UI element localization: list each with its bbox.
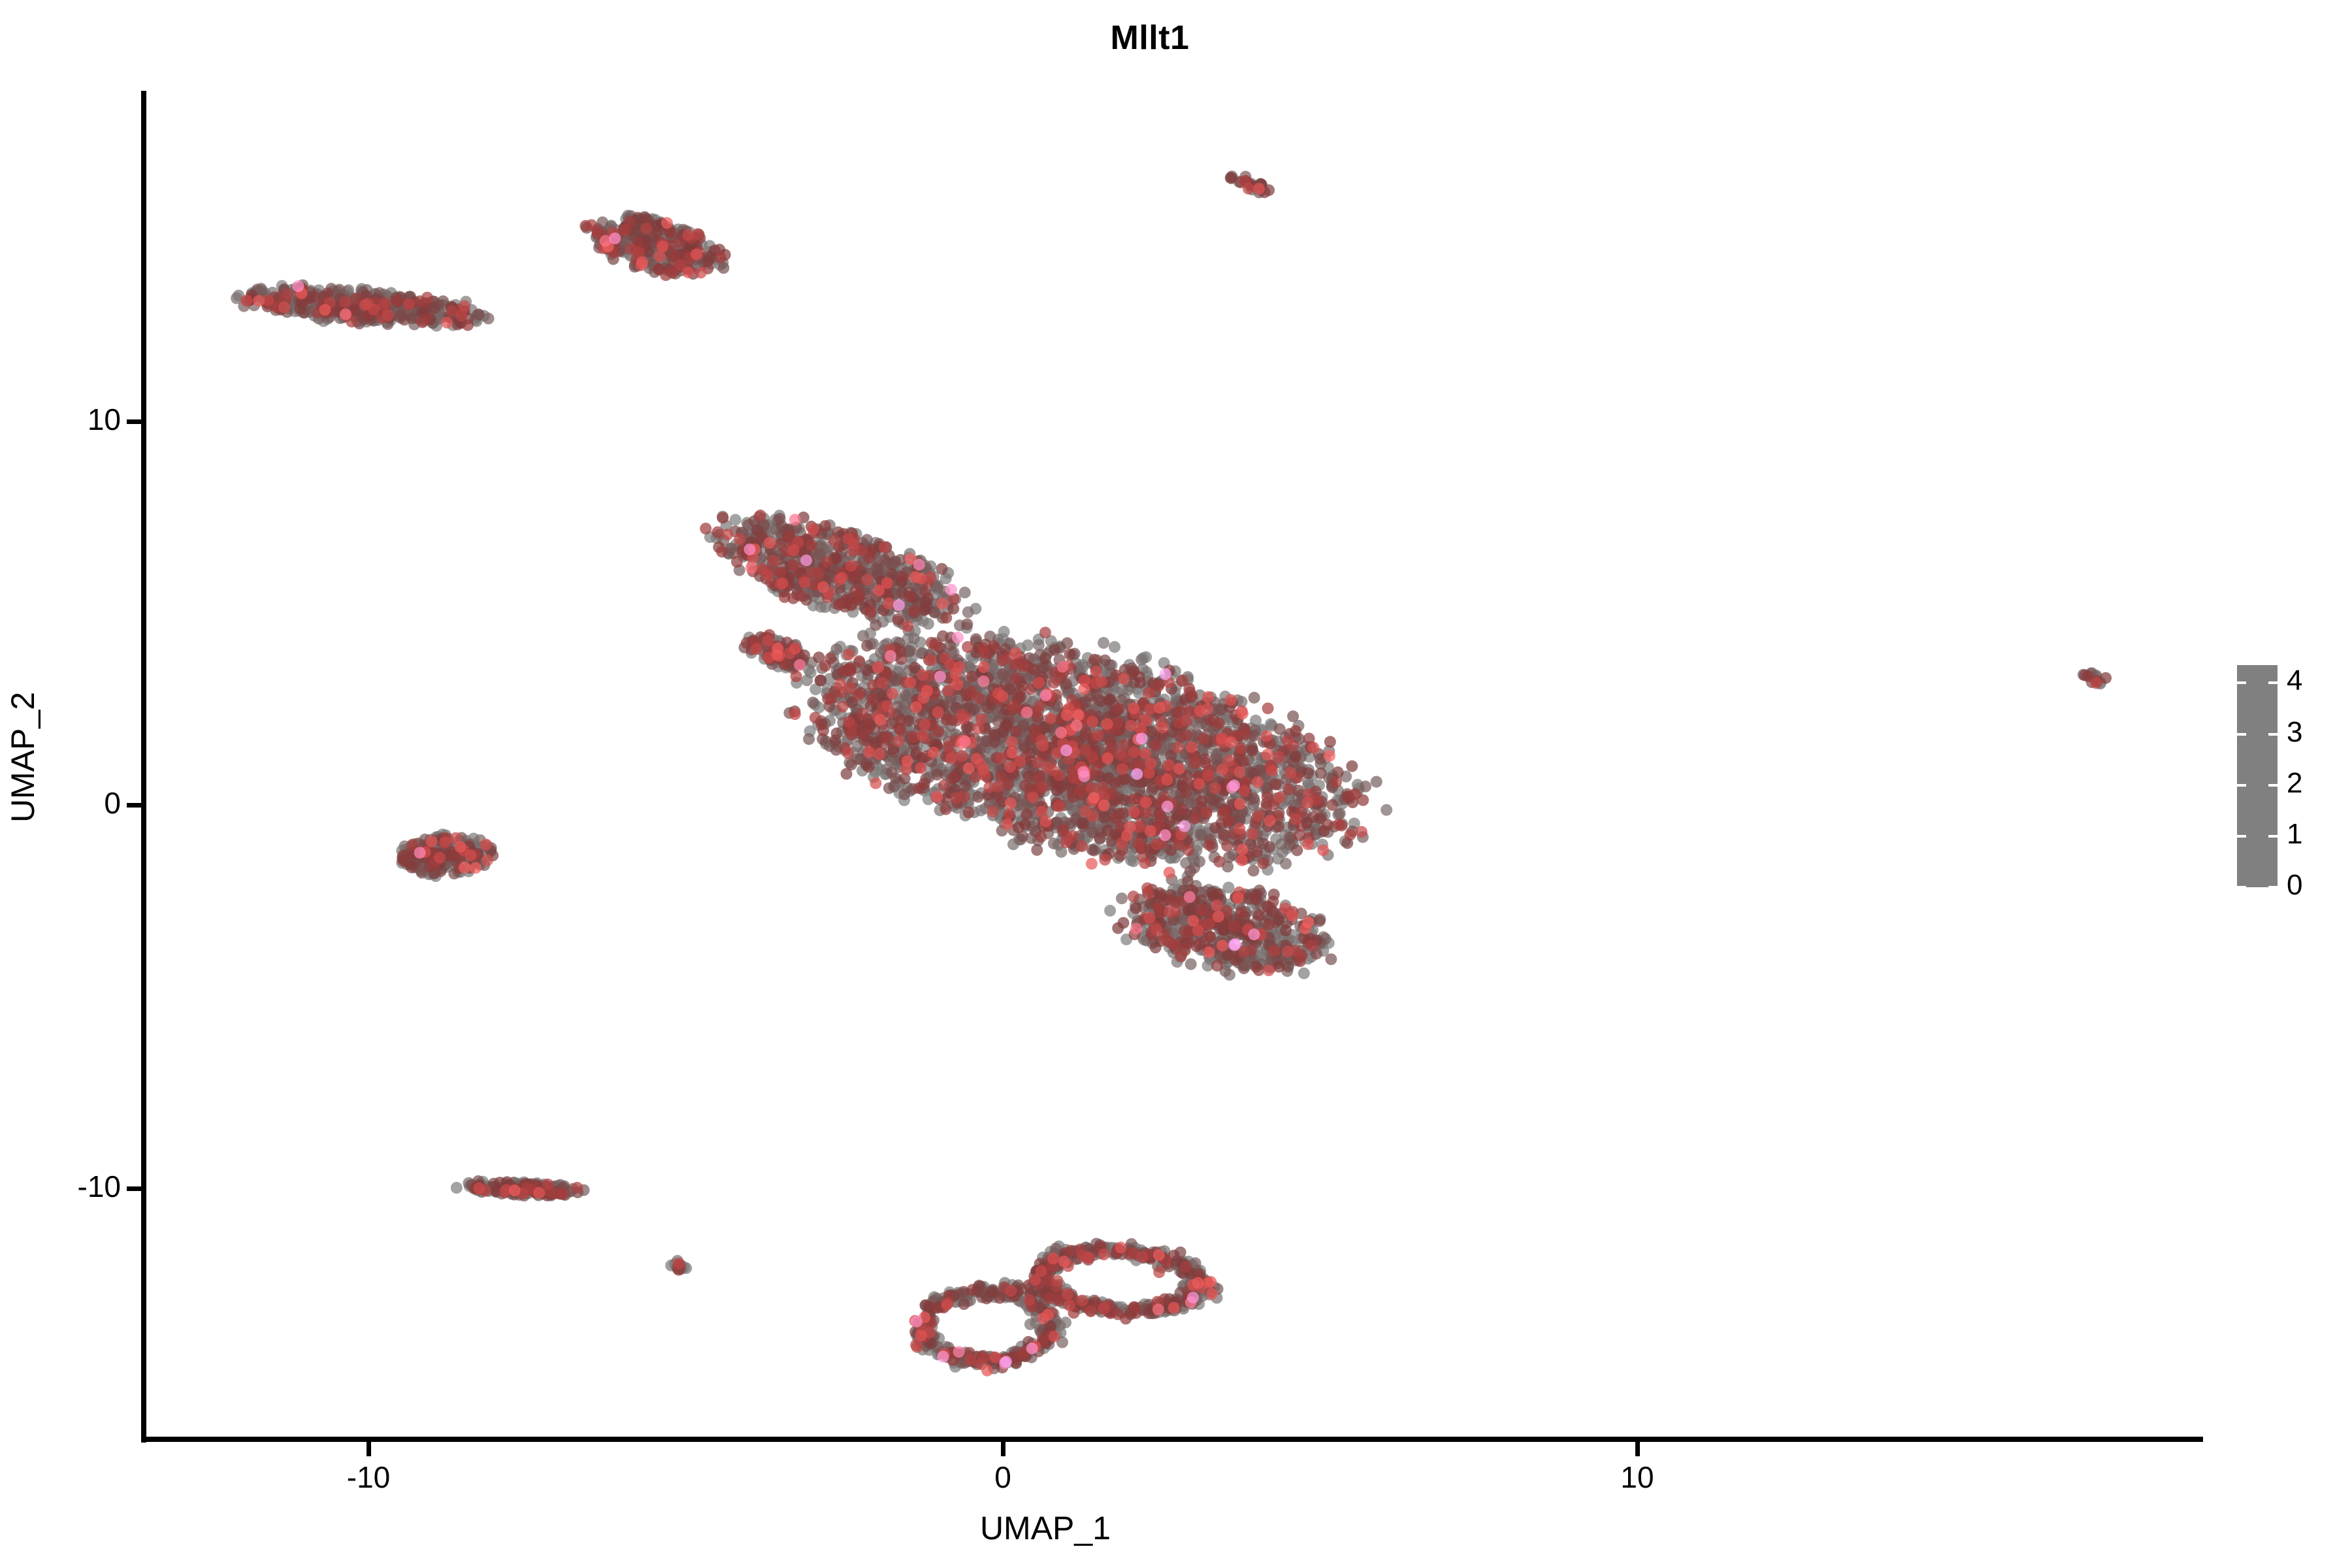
- x-tick-label: 0: [905, 1462, 1101, 1492]
- colorbar-tick-label: 3: [2287, 718, 2332, 747]
- x-tick-mark: [1001, 1442, 1005, 1456]
- y-axis-title: UMAP_2: [4, 561, 42, 953]
- y-tick-mark: [127, 803, 141, 808]
- colorbar-tick-label: 0: [2287, 871, 2332, 900]
- colorbar-tick-label: 2: [2287, 769, 2332, 798]
- colorbar-legend: 43210: [2237, 665, 2335, 902]
- x-tick-label: -10: [270, 1462, 466, 1492]
- colorbar-tick-mark: [2237, 835, 2246, 838]
- colorbar-tick-mark: [2268, 886, 2278, 889]
- x-tick-label: 10: [1539, 1462, 1735, 1492]
- colorbar-tick-label: 4: [2287, 666, 2332, 695]
- page-title: Mllt1: [0, 18, 2300, 57]
- colorbar-tick-mark: [2237, 733, 2246, 736]
- colorbar-tick-mark: [2237, 681, 2246, 684]
- colorbar-gradient: [2237, 665, 2278, 887]
- y-tick-mark: [127, 419, 141, 424]
- y-tick-mark: [127, 1186, 141, 1191]
- feature-plot-figure: Mllt1 100-10 -10010 UMAP_1 UMAP_2 43210: [0, 0, 2352, 1568]
- colorbar-tick-mark: [2268, 835, 2278, 838]
- x-axis-title: UMAP_1: [882, 1509, 1209, 1547]
- colorbar-tick-mark: [2237, 886, 2246, 889]
- plot-panel: [144, 91, 2203, 1440]
- y-tick-label: -10: [0, 1171, 121, 1201]
- colorbar-tick-mark: [2237, 784, 2246, 787]
- colorbar-tick-mark: [2268, 681, 2278, 684]
- colorbar-tick-mark: [2268, 784, 2278, 787]
- colorbar-tick-label: 1: [2287, 820, 2332, 849]
- colorbar-tick-mark: [2268, 733, 2278, 736]
- y-tick-label: 10: [0, 404, 121, 434]
- x-tick-mark: [367, 1442, 371, 1456]
- x-tick-mark: [1635, 1442, 1640, 1456]
